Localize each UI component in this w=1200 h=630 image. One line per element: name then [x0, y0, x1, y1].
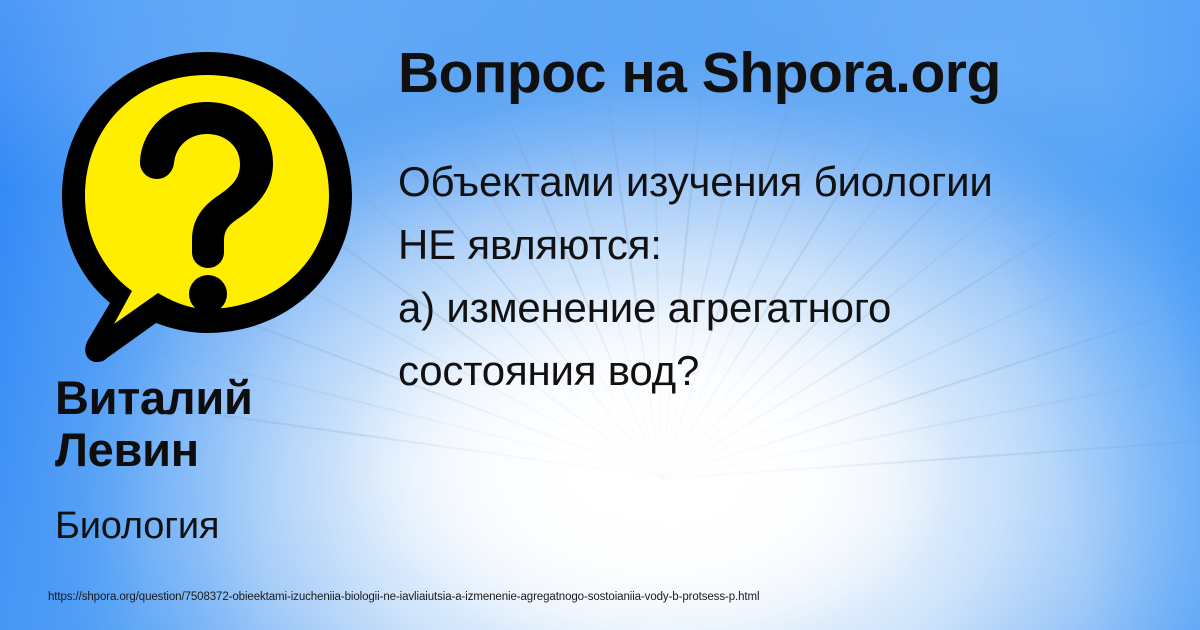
question-share-card: Вопрос на Shpora.org Объектами изучения …	[0, 0, 1200, 630]
question-line-1: Объектами изучения биологии	[398, 150, 1198, 213]
question-speech-bubble-icon	[52, 44, 362, 374]
question-line-3: а) изменение агрегатного	[398, 276, 1198, 339]
source-url: https://shpora.org/question/7508372-obie…	[48, 591, 759, 603]
author-first-name: Виталий	[55, 372, 385, 424]
question-line-4: состояния вод?	[398, 339, 1198, 402]
author-name: Виталий Левин	[55, 372, 385, 476]
question-line-2: НЕ являются:	[398, 213, 1198, 276]
author-last-name: Левин	[55, 424, 385, 476]
page-title: Вопрос на Shpora.org	[398, 44, 1188, 104]
subject-label: Биология	[55, 505, 385, 548]
question-text: Объектами изучения биологии НЕ являются:…	[398, 150, 1198, 402]
